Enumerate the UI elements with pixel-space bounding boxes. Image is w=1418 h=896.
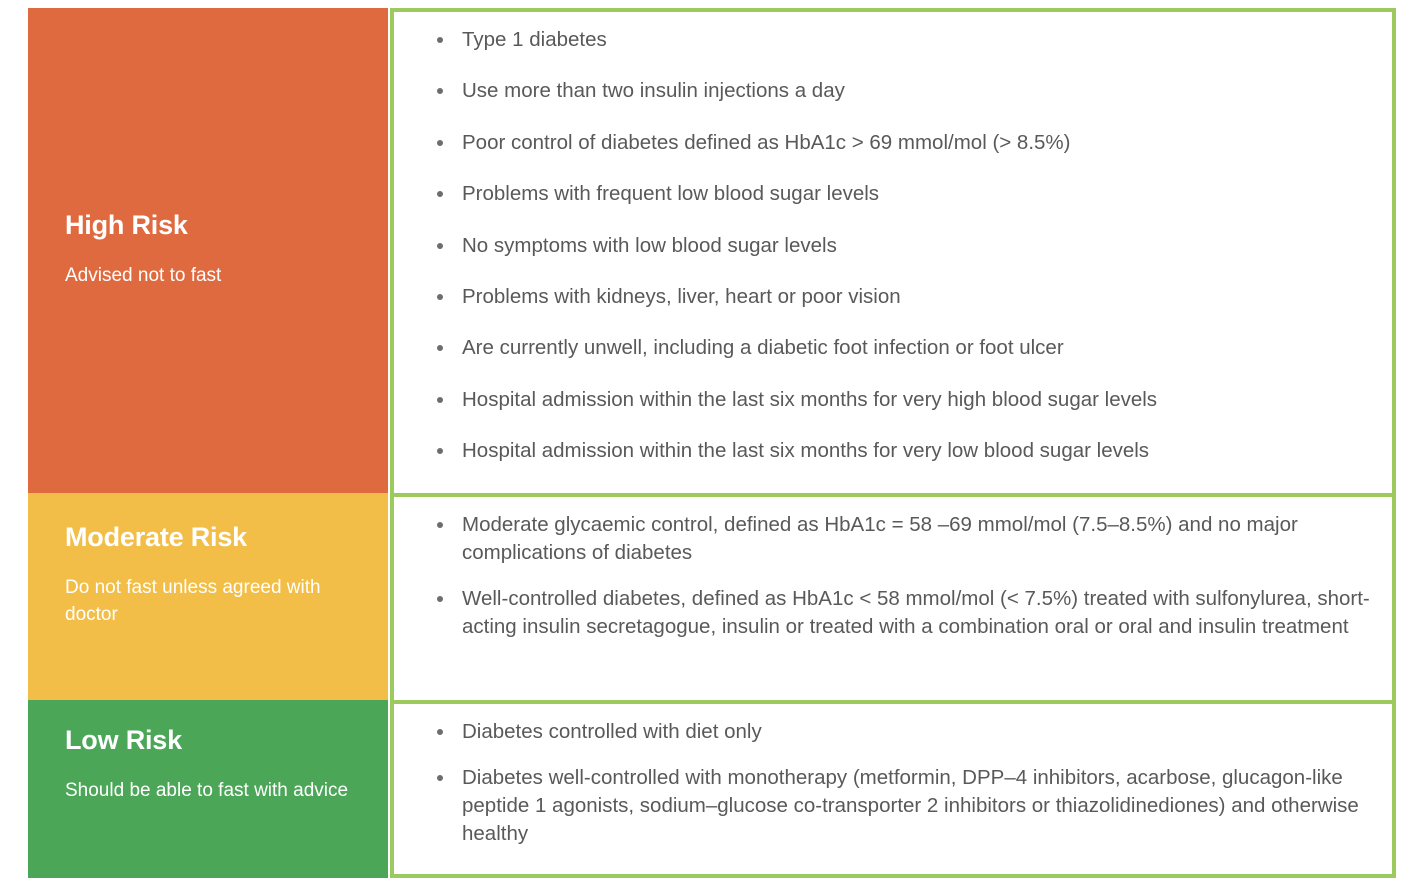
list-item: Diabetes well-controlled with monotherap… bbox=[436, 764, 1374, 848]
risk-label-cell-moderate: Moderate Risk Do not fast unless agreed … bbox=[28, 493, 388, 700]
list-item: Hospital admission within the last six m… bbox=[436, 437, 1374, 465]
list-item: Diabetes controlled with diet only bbox=[436, 718, 1374, 746]
list-item: Well-controlled diabetes, defined as HbA… bbox=[436, 585, 1374, 641]
list-item: Hospital admission within the last six m… bbox=[436, 386, 1374, 414]
list-item: Problems with kidneys, liver, heart or p… bbox=[436, 283, 1374, 311]
risk-title-moderate: Moderate Risk bbox=[65, 523, 388, 553]
risk-title-low: Low Risk bbox=[65, 726, 388, 756]
list-item: Type 1 diabetes bbox=[436, 26, 1374, 54]
list-item: No symptoms with low blood sugar levels bbox=[436, 232, 1374, 260]
list-item: Are currently unwell, including a diabet… bbox=[436, 334, 1374, 362]
risk-subtitle-low: Should be able to fast with advice bbox=[65, 778, 355, 805]
risk-subtitle-high: Advised not to fast bbox=[65, 263, 325, 290]
risk-label-cell-low: Low Risk Should be able to fast with adv… bbox=[28, 700, 388, 878]
diabetes-fasting-risk-table: High Risk Advised not to fast Type 1 dia… bbox=[28, 8, 1396, 878]
risk-criteria-cell-high: Type 1 diabetes Use more than two insuli… bbox=[390, 8, 1396, 493]
table-row-high-risk: High Risk Advised not to fast Type 1 dia… bbox=[28, 8, 1396, 493]
risk-title-high: High Risk bbox=[65, 211, 388, 241]
list-item: Moderate glycaemic control, defined as H… bbox=[436, 511, 1374, 567]
risk-criteria-cell-moderate: Moderate glycaemic control, defined as H… bbox=[390, 493, 1396, 700]
risk-subtitle-moderate: Do not fast unless agreed with doctor bbox=[65, 575, 355, 629]
list-item: Use more than two insulin injections a d… bbox=[436, 77, 1374, 105]
table-row-low-risk: Low Risk Should be able to fast with adv… bbox=[28, 700, 1396, 878]
criteria-list-low: Diabetes controlled with diet only Diabe… bbox=[436, 718, 1374, 848]
list-item: Poor control of diabetes defined as HbA1… bbox=[436, 129, 1374, 157]
risk-label-cell-high: High Risk Advised not to fast bbox=[28, 8, 388, 493]
table-row-moderate-risk: Moderate Risk Do not fast unless agreed … bbox=[28, 493, 1396, 700]
criteria-list-high: Type 1 diabetes Use more than two insuli… bbox=[436, 26, 1374, 516]
list-item: Problems with frequent low blood sugar l… bbox=[436, 180, 1374, 208]
criteria-list-moderate: Moderate glycaemic control, defined as H… bbox=[436, 511, 1374, 641]
risk-criteria-cell-low: Diabetes controlled with diet only Diabe… bbox=[390, 700, 1396, 878]
